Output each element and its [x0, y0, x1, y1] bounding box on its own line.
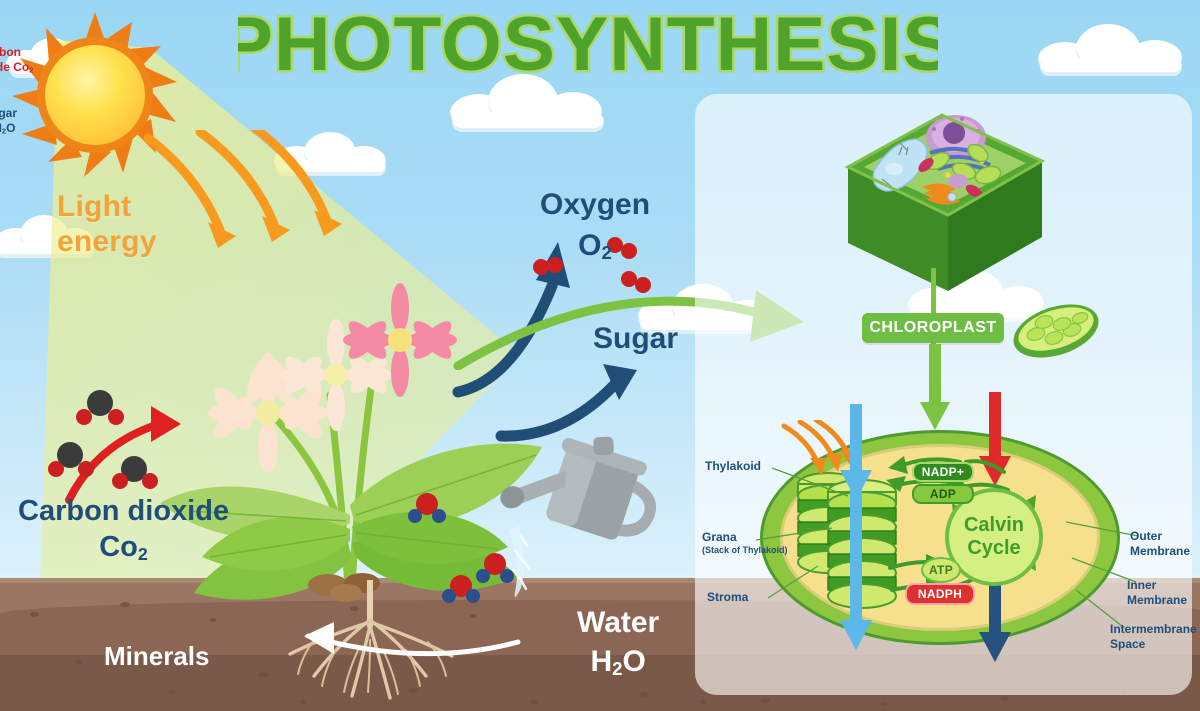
- label-grana-sub: (Stack of Thylakoid): [702, 545, 788, 556]
- co2-molecules: [40, 385, 180, 495]
- cloud: [1030, 22, 1190, 76]
- label-inner-membrane: InnerMembrane: [1127, 578, 1187, 608]
- label-light-energy: Light energy: [57, 190, 157, 259]
- plant-cell-illustration: [830, 95, 1060, 310]
- photosynthesis-infographic: Light energy: [0, 0, 1200, 711]
- label-grana: Grana(Stack of Thylakoid): [702, 530, 788, 556]
- label-water: WaterH2O: [577, 606, 659, 679]
- label-minerals: Minerals: [104, 642, 210, 672]
- label-intermembrane-space: IntermembraneSpace: [1110, 622, 1197, 652]
- label-outer-membrane: OuterMembrane: [1130, 529, 1190, 559]
- label-stroma: Stroma: [707, 590, 748, 605]
- chloroplast-down-arrow: [918, 344, 952, 432]
- label-thylakoid: Thylakoid: [705, 459, 761, 474]
- water-arrow: [300, 620, 530, 680]
- panel-label-carbon-dioxide: CarbonDioxide Co2: [0, 45, 600, 75]
- label-oxygen: OxygenO2: [540, 188, 650, 263]
- label-carbon-dioxide: Carbon dioxideCo2: [18, 495, 229, 565]
- chloroplast-badge: CHLOROPLAST: [862, 313, 1004, 343]
- label-sugar: Sugar: [593, 322, 678, 357]
- mini-chloroplast-icon: [1010, 300, 1102, 362]
- h2o-molecules: [405, 490, 535, 605]
- panel-label-sugar: SugarCH2O: [0, 106, 600, 137]
